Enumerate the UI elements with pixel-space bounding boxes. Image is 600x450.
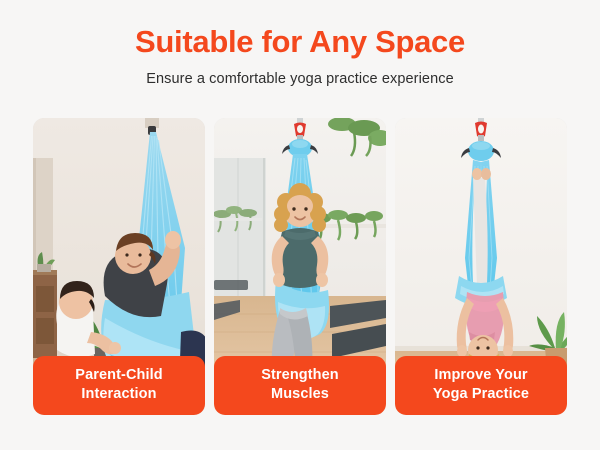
feature-card-row: Parent-Child Interaction [33,118,567,415]
promo-banner: Suitable for Any Space Ensure a comforta… [0,0,600,450]
caption-line-2: Muscles [220,385,380,404]
caption-line-1: Strengthen [220,366,380,385]
feature-card[interactable]: Strengthen Muscles [214,118,386,415]
feature-card[interactable]: Improve Your Yoga Practice [395,118,567,415]
header: Suitable for Any Space Ensure a comforta… [0,0,600,88]
card-caption: Improve Your Yoga Practice [395,356,567,415]
page-subtitle: Ensure a comfortable yoga practice exper… [0,71,600,88]
caption-line-2: Yoga Practice [401,385,561,404]
caption-line-1: Improve Your [401,366,561,385]
page-title: Suitable for Any Space [0,26,600,59]
caption-line-2: Interaction [39,385,199,404]
feature-card[interactable]: Parent-Child Interaction [33,118,205,415]
caption-line-1: Parent-Child [39,366,199,385]
card-caption: Strengthen Muscles [214,356,386,415]
card-caption: Parent-Child Interaction [33,356,205,415]
